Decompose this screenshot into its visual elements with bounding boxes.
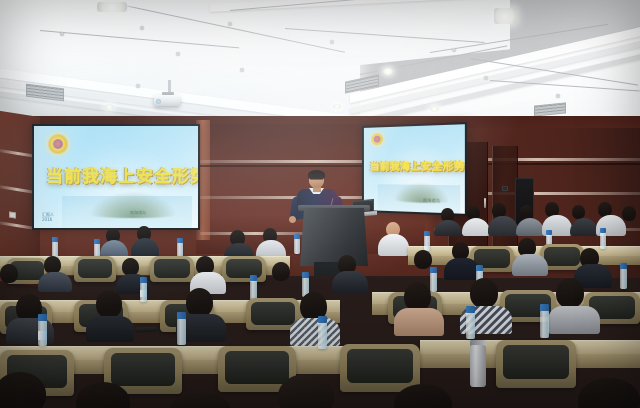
water-bottle[interactable] (540, 310, 549, 338)
water-bottle[interactable] (294, 238, 300, 254)
chair-cushion (347, 349, 413, 383)
attendee-shoulders (394, 308, 444, 336)
bottle-cap (600, 228, 606, 233)
attendee (572, 205, 585, 219)
bottle-cap (430, 267, 437, 273)
wire-anchor (176, 52, 180, 56)
water-bottle[interactable] (466, 312, 475, 339)
bottle-cap (177, 312, 186, 319)
attendee (272, 262, 290, 281)
slide-title-left: 当前我海上安全形势 (46, 162, 200, 187)
attendee-shoulders (38, 272, 72, 292)
chair-cushion (544, 247, 580, 266)
slide-emblem-icon (371, 132, 384, 146)
bottle-cap (52, 237, 58, 242)
presenter-hair (308, 170, 325, 179)
bottle-cap (140, 277, 147, 283)
bottle-cap (94, 239, 100, 244)
water-bottle[interactable] (318, 322, 327, 349)
attendee-shoulders (488, 216, 518, 236)
slide-title-right: 当前我海上安全形势 (370, 157, 465, 173)
attendee-shoulders (86, 316, 134, 342)
attendee (404, 282, 431, 311)
bottle-cap (620, 263, 627, 269)
lecture-hall-photo: 当前我海上安全形势 汇报人 2016 南海诸岛 当前我海上安全形势 南海诸岛 (0, 0, 640, 408)
attendee (186, 288, 213, 317)
slide-emblem-core-icon (374, 135, 381, 142)
wire-anchor (140, 26, 144, 30)
bottle-cap (466, 306, 475, 313)
slide-badge-right: 南海诸岛 (423, 197, 440, 204)
attendee (278, 374, 334, 408)
smartphone-on-desk[interactable] (135, 326, 157, 332)
presenter-glasses (310, 179, 323, 182)
attendee-shoulders (548, 306, 600, 334)
bottle-cap (302, 272, 309, 278)
wire-anchor (556, 94, 560, 98)
attendee (170, 392, 230, 408)
wall-switch-plate[interactable] (502, 186, 508, 191)
slide-emblem-icon (47, 133, 69, 155)
wire-anchor (330, 40, 334, 44)
slide-emblem-core-icon (53, 139, 63, 149)
bottle-cap (546, 230, 552, 235)
attendee (414, 250, 432, 269)
slide-caption-left: 汇报人 2016 (42, 212, 54, 222)
slide-badge-left: 南海诸岛 (130, 210, 146, 216)
water-bottle[interactable] (430, 272, 437, 292)
water-bottle[interactable] (600, 232, 606, 249)
attendee (0, 264, 18, 283)
recessed-downlight (333, 104, 341, 109)
chair-cushion (503, 345, 569, 379)
audience-chair[interactable] (222, 256, 266, 282)
bottle-label (38, 331, 47, 340)
attendee-shoulders (444, 258, 480, 280)
attendee-shoulders (290, 318, 340, 346)
bottle-cap (424, 231, 430, 236)
attendee-shoulders (378, 234, 409, 256)
chair-cushion (78, 259, 112, 278)
attendee-shoulders (131, 238, 159, 258)
audience-chair[interactable] (150, 256, 194, 282)
audience-chair[interactable] (496, 340, 576, 388)
water-bottle[interactable] (424, 235, 430, 251)
lectern (300, 208, 368, 266)
bottle-cap (177, 238, 183, 243)
vacuum-flask[interactable] (470, 345, 486, 387)
water-bottle[interactable] (620, 268, 627, 289)
wire-anchor (228, 22, 232, 26)
bottle-cap (38, 314, 47, 321)
door-handle[interactable] (484, 198, 486, 208)
attendee (578, 378, 640, 408)
projector-lens (156, 99, 161, 104)
wire-anchor (240, 68, 244, 72)
chair-cushion (251, 302, 295, 325)
attendee (470, 278, 498, 308)
recessed-downlight (494, 8, 516, 24)
attendee (96, 290, 122, 318)
water-bottle[interactable] (250, 280, 257, 300)
projection-screen-right: 当前我海上安全形势 南海诸岛 (362, 122, 467, 216)
recessed-downlight (105, 104, 114, 110)
bottle-cap (294, 234, 300, 239)
chair-cushion (225, 351, 289, 384)
bottle-label (140, 290, 147, 297)
slide-background: 当前我海上安全形势 南海诸岛 (364, 124, 465, 214)
wall-outlet-plate (9, 211, 16, 218)
projection-screen-left: 当前我海上安全形势 汇报人 2016 南海诸岛 (32, 124, 200, 230)
attendee (622, 206, 636, 221)
presenter-hand (289, 216, 296, 223)
chair-cushion (154, 259, 190, 278)
attendee-shoulders (332, 271, 368, 293)
chair-cushion (111, 353, 175, 386)
bottle-cap (250, 275, 257, 281)
audience-chair[interactable] (340, 344, 420, 392)
recessed-downlight (97, 2, 127, 12)
audience-chair[interactable] (74, 256, 116, 282)
bottle-cap (318, 316, 327, 323)
recessed-downlight (430, 106, 439, 112)
bottle-cap (540, 304, 549, 311)
water-bottle[interactable] (177, 318, 186, 345)
slide-background: 当前我海上安全形势 汇报人 2016 南海诸岛 (34, 126, 198, 228)
bottle-cap (476, 265, 483, 271)
recessed-downlight (383, 68, 393, 75)
wire-anchor (484, 76, 488, 80)
attendee (556, 278, 584, 308)
attendee (520, 205, 533, 219)
wire-anchor (60, 32, 64, 36)
wire-anchor (136, 84, 140, 88)
wire-anchor (452, 48, 456, 52)
attendee-shoulders (512, 254, 548, 276)
